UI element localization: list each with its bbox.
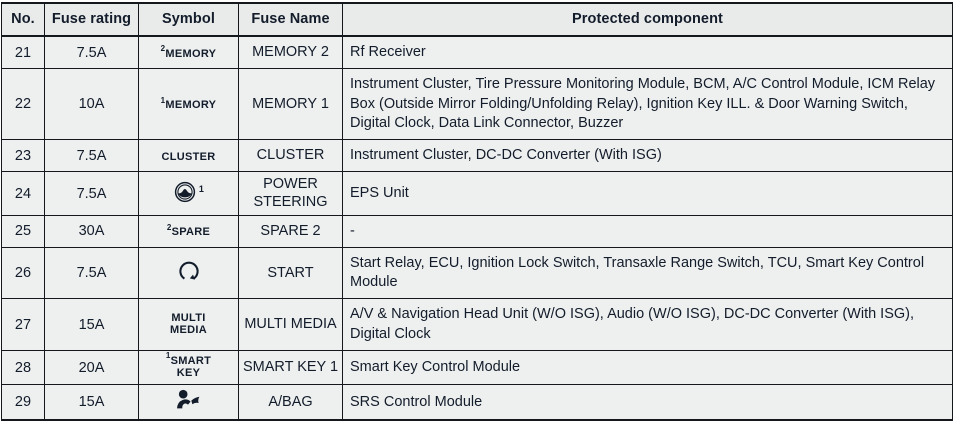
fuse-number: 27	[2, 299, 45, 351]
fuse-name-line-1: POWER	[263, 176, 318, 192]
fuse-symbol: 1	[139, 172, 239, 215]
column-header-protected-component: Protected component	[343, 3, 953, 36]
fuse-name: POWER STEERING	[239, 172, 343, 215]
fuse-number: 28	[2, 351, 45, 385]
fuse-name: SMART KEY 1	[239, 351, 343, 385]
fuse-rating: 7.5A	[45, 172, 139, 215]
fuse-name: MEMORY 1	[239, 69, 343, 140]
symbol-superscript: 1	[199, 185, 204, 194]
smart-key-1-text-icon: 1SMARTKEY	[166, 355, 211, 380]
column-header-no: No.	[2, 3, 45, 36]
protected-component: -	[343, 215, 953, 247]
fuse-name: CLUSTER	[239, 140, 343, 172]
fuse-name: MEMORY 2	[239, 36, 343, 69]
symbol-label: CLUSTER	[161, 151, 215, 163]
start-circular-arrow-icon	[176, 258, 202, 284]
symbol-superscript: 2	[167, 223, 172, 232]
protected-component: Instrument Cluster, Tire Pressure Monito…	[343, 69, 953, 140]
symbol-label-line-2: MEDIA	[170, 324, 207, 336]
fuse-rating: 15A	[45, 299, 139, 351]
multi-media-text-icon: MULTIMEDIA	[170, 312, 207, 337]
fuse-symbol	[139, 385, 239, 421]
symbol-label-line-1: SMART	[171, 355, 212, 367]
table-row: 27 15A MULTIMEDIA MULTI MEDIA A/V & Navi…	[2, 299, 953, 351]
symbol-label: MEMORY	[165, 99, 216, 111]
fuse-rating: 7.5A	[45, 36, 139, 69]
fuse-name-line-2: STEERING	[253, 194, 327, 210]
fuse-rating: 15A	[45, 385, 139, 421]
fuse-rating: 20A	[45, 351, 139, 385]
fuse-box-table-container: No. Fuse rating Symbol Fuse Name Protect…	[0, 0, 953, 443]
fuse-symbol: 2MEMORY	[139, 36, 239, 69]
symbol-label: MEMORY	[165, 48, 216, 60]
fuse-number: 24	[2, 172, 45, 215]
table-row: 28 20A 1SMARTKEY SMART KEY 1 Smart Key C…	[2, 351, 953, 385]
fuse-symbol: CLUSTER	[139, 140, 239, 172]
protected-component: EPS Unit	[343, 172, 953, 215]
memory-2-text-icon: 2MEMORY	[161, 49, 217, 60]
protected-component: Smart Key Control Module	[343, 351, 953, 385]
table-row: 29 15A A/BAG SRS Control Module	[2, 385, 953, 421]
column-header-rating: Fuse rating	[45, 3, 139, 36]
fuse-symbol: 1SMARTKEY	[139, 351, 239, 385]
symbol-label-line-1: MULTI	[171, 312, 205, 324]
fuse-number: 29	[2, 385, 45, 421]
table-row: 22 10A 1MEMORY MEMORY 1 Instrument Clust…	[2, 69, 953, 140]
fuse-symbol: MULTIMEDIA	[139, 299, 239, 351]
table-row: 25 30A 2SPARE SPARE 2 -	[2, 215, 953, 247]
table-header-row: No. Fuse rating Symbol Fuse Name Protect…	[2, 3, 953, 36]
fuse-name: A/BAG	[239, 385, 343, 421]
cluster-text-icon: CLUSTER	[161, 152, 215, 163]
column-header-symbol: Symbol	[139, 3, 239, 36]
table-row: 23 7.5A CLUSTER CLUSTER Instrument Clust…	[2, 140, 953, 172]
fuse-rating: 10A	[45, 69, 139, 140]
symbol-label-line-2: KEY	[177, 367, 201, 379]
fuse-symbol	[139, 247, 239, 299]
protected-component: SRS Control Module	[343, 385, 953, 421]
fuse-rating: 7.5A	[45, 140, 139, 172]
fuse-number: 22	[2, 69, 45, 140]
fuse-name: MULTI MEDIA	[239, 299, 343, 351]
protected-component: Rf Receiver	[343, 36, 953, 69]
spare-2-text-icon: 2SPARE	[167, 227, 210, 238]
fuse-name: SPARE 2	[239, 215, 343, 247]
fuse-number: 26	[2, 247, 45, 299]
airbag-icon	[174, 389, 204, 411]
symbol-superscript: 1	[161, 96, 166, 105]
symbol-superscript: 1	[166, 351, 171, 360]
fuse-rating: 7.5A	[45, 247, 139, 299]
fuse-name: START	[239, 247, 343, 299]
fuse-number: 25	[2, 215, 45, 247]
fuse-rating: 30A	[45, 215, 139, 247]
fuse-symbol: 2SPARE	[139, 215, 239, 247]
fuse-symbol: 1MEMORY	[139, 69, 239, 140]
fuse-number: 21	[2, 36, 45, 69]
table-row: 24 7.5A 1 POWER STEERING	[2, 172, 953, 215]
table-row: 26 7.5A START Start Relay, ECU, Ignition…	[2, 247, 953, 299]
steering-wheel-icon: 1	[173, 180, 204, 204]
memory-1-text-icon: 1MEMORY	[161, 100, 217, 111]
protected-component: Start Relay, ECU, Ignition Lock Switch, …	[343, 247, 953, 299]
table-row: 21 7.5A 2MEMORY MEMORY 2 Rf Receiver	[2, 36, 953, 69]
fuse-number: 23	[2, 140, 45, 172]
fuse-box-table: No. Fuse rating Symbol Fuse Name Protect…	[1, 2, 953, 421]
symbol-superscript: 2	[161, 44, 166, 53]
protected-component: Instrument Cluster, DC-DC Converter (Wit…	[343, 140, 953, 172]
column-header-name: Fuse Name	[239, 3, 343, 36]
symbol-label: SPARE	[172, 226, 211, 238]
protected-component: A/V & Navigation Head Unit (W/O ISG), Au…	[343, 299, 953, 351]
